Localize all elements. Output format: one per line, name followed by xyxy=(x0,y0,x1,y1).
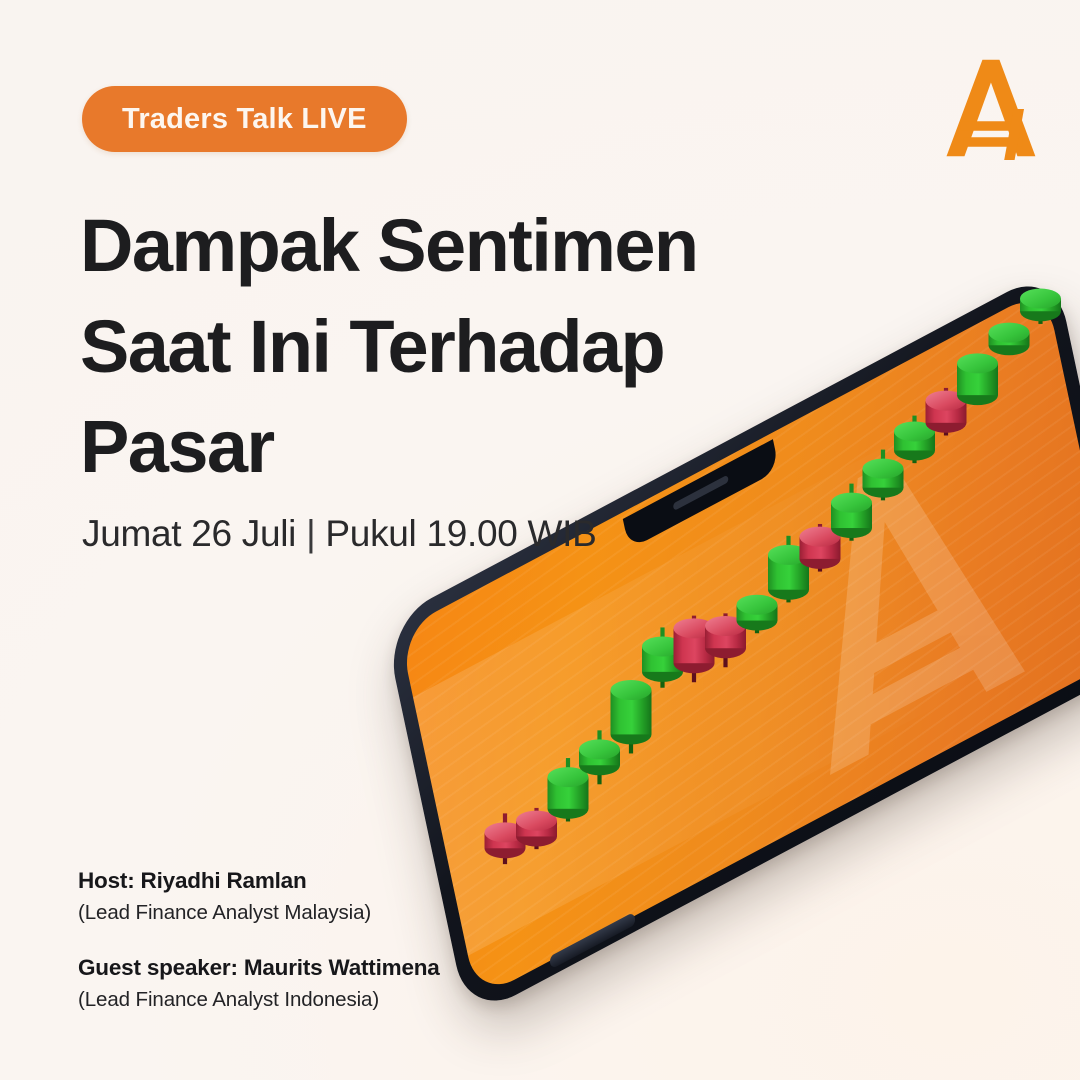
schedule-line: Jumat 26 Juli|Pukul 19.00 WIB xyxy=(82,513,597,555)
schedule-time: Pukul 19.00 WIB xyxy=(325,513,596,554)
list-item: Host: Riyadhi Ramlan (Lead Finance Analy… xyxy=(78,866,598,927)
list-item: Guest speaker: Maurits Wattimena (Lead F… xyxy=(78,953,598,1014)
candlestick xyxy=(989,323,1030,356)
page-title: Dampak Sentimen Saat Ini Terhadap Pasar xyxy=(80,196,840,498)
schedule-date: Jumat 26 Juli xyxy=(82,513,296,554)
guest-name: Guest speaker: Maurits Wattimena xyxy=(78,953,598,982)
guest-role: (Lead Finance Analyst Indonesia) xyxy=(78,986,598,1014)
candlestick xyxy=(957,353,998,405)
host-role: (Lead Finance Analyst Malaysia) xyxy=(78,899,598,927)
live-badge[interactable]: Traders Talk LIVE xyxy=(82,86,407,152)
brand-logo-a-icon xyxy=(942,56,1038,160)
candlestick xyxy=(611,680,652,753)
candlestick xyxy=(737,595,778,634)
host-name: Host: Riyadhi Ramlan xyxy=(78,866,598,895)
candlestick xyxy=(863,450,904,501)
schedule-separator: | xyxy=(296,513,325,555)
promo-poster: Traders Talk LIVE Dampak Sentimen Saat I… xyxy=(0,0,1080,1080)
candlestick xyxy=(1020,289,1061,324)
speakers-list: Host: Riyadhi Ramlan (Lead Finance Analy… xyxy=(78,866,598,1040)
